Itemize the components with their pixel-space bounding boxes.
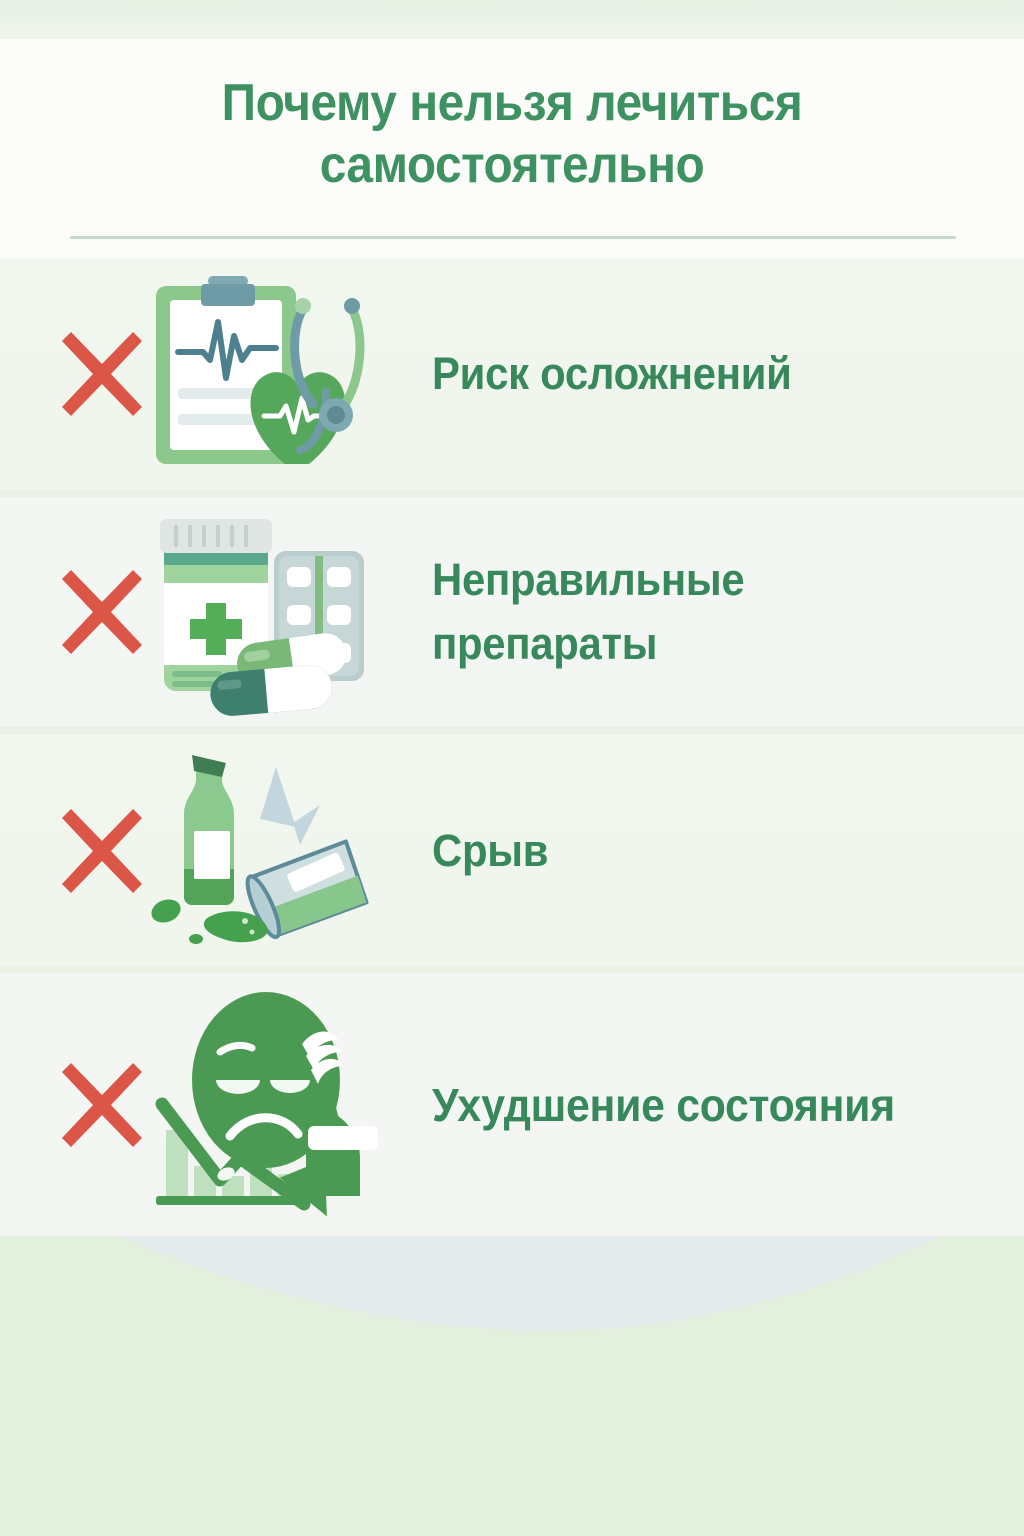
list-item-label: Неправильные препараты bbox=[432, 548, 939, 676]
pill-bottle-blister-capsules-icon bbox=[148, 497, 386, 727]
red-x-mark-icon bbox=[58, 805, 146, 897]
red-x-mark-icon bbox=[58, 1059, 146, 1151]
page-title-line-1: Почему нельзя лечиться bbox=[41, 72, 983, 134]
header-divider bbox=[70, 236, 956, 239]
list-item[interactable]: Срыв bbox=[0, 735, 1024, 966]
list-item[interactable]: Ухудшение состояния bbox=[0, 974, 1024, 1236]
clipboard-heart-stethoscope-icon bbox=[148, 259, 386, 489]
list-item[interactable]: Риск осложнений bbox=[0, 259, 1024, 489]
list-item-label: Срыв bbox=[432, 819, 939, 883]
sad-person-declining-chart-icon bbox=[148, 974, 386, 1236]
page-title-line-2: самостоятельно bbox=[41, 134, 983, 196]
page-title: Почему нельзя лечиться самостоятельно bbox=[0, 72, 1024, 196]
list-item-label: Ухудшение состояния bbox=[432, 1073, 939, 1137]
alcohol-bottle-spilled-glass-icon bbox=[148, 735, 386, 966]
red-x-mark-icon bbox=[58, 566, 146, 658]
top-accent-strip bbox=[0, 0, 1024, 39]
list-item-label: Риск осложнений bbox=[432, 342, 939, 406]
list-item[interactable]: Неправильные препараты bbox=[0, 497, 1024, 727]
red-x-mark-icon bbox=[58, 328, 146, 420]
